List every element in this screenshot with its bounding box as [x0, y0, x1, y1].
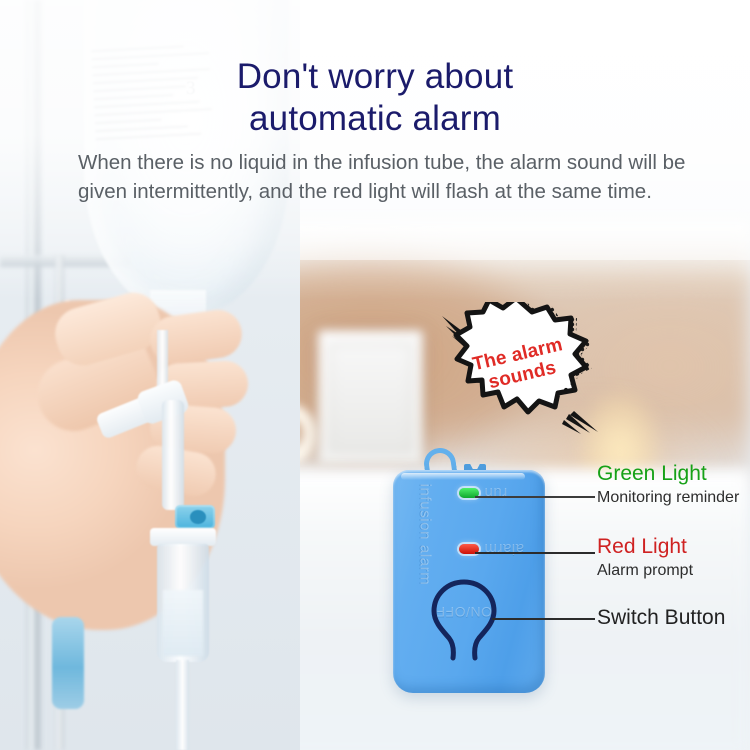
callout-green-subtitle: Monitoring reminder	[597, 488, 739, 508]
burst-speed-lines-right	[562, 411, 598, 434]
callout-green-light: Green Light Monitoring reminder	[597, 462, 739, 508]
iv-blue-clip	[52, 617, 84, 709]
callout-green-title: Green Light	[597, 462, 739, 486]
product-infographic: 3 Don't worry about automatic alarm When…	[0, 0, 750, 750]
wall-picture-inner	[330, 344, 411, 451]
alarm-label: alarm	[484, 540, 524, 557]
iv-tube-upper	[157, 330, 168, 390]
iv-tube-lower	[176, 660, 189, 750]
alarm-sound-burst: The alarm sounds	[440, 302, 600, 434]
leader-line-green	[475, 496, 595, 498]
page-title-line1: Don't worry about	[237, 57, 514, 96]
switch-button[interactable]	[428, 578, 500, 664]
callout-red-light: Red Light Alarm prompt	[597, 535, 693, 581]
page-description: When there is no liquid in the infusion …	[78, 148, 698, 206]
infusion-alarm-device[interactable]: infusion alarm run alarm ON/OFF	[388, 448, 550, 698]
wall-picture-frame	[318, 330, 423, 465]
page-title-line2: automatic alarm	[0, 98, 750, 140]
leader-line-red	[475, 552, 595, 554]
page-title: Don't worry about automatic alarm	[0, 56, 750, 140]
burst-speck	[571, 383, 574, 386]
leader-line-switch	[492, 618, 595, 620]
iv-tube-middle	[162, 400, 184, 510]
iv-roller-wheel	[190, 510, 206, 524]
drip-chamber-liquid	[163, 590, 203, 656]
callout-switch-button: Switch Button	[597, 606, 725, 630]
callout-red-title: Red Light	[597, 535, 693, 559]
burst-speck	[564, 388, 568, 392]
callout-red-subtitle: Alarm prompt	[597, 561, 693, 581]
run-label: run	[484, 484, 507, 501]
callout-switch-title: Switch Button	[597, 606, 725, 630]
